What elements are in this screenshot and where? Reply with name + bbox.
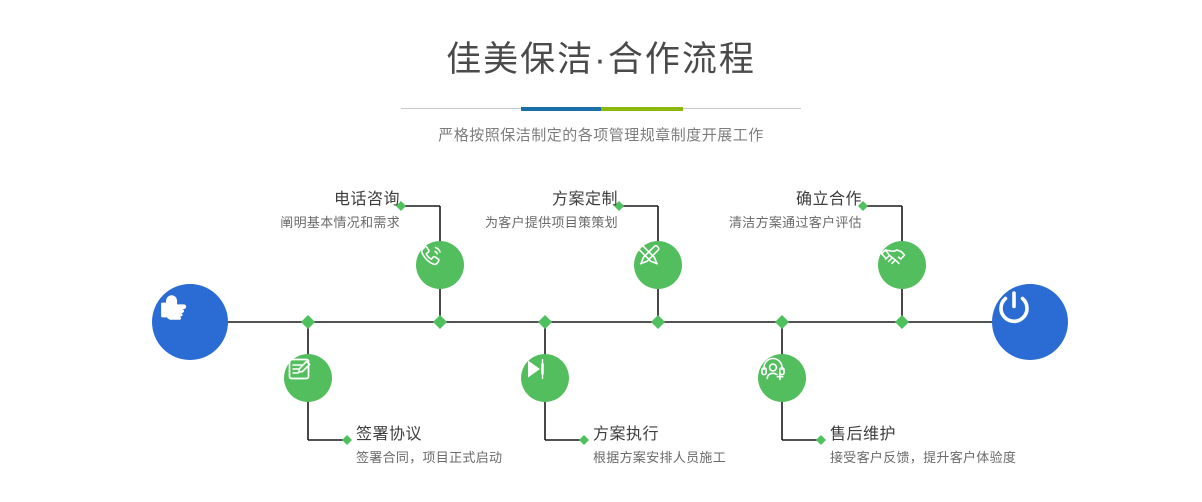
timeline-diamond-3 <box>538 315 552 329</box>
process-flow-diagram: 电话咨询 阐明基本情况和需求 签署协议 签署合同，项目正式启动 方案定制 为客户… <box>0 0 1202 502</box>
step-title-6: 售后维护 <box>830 425 1016 445</box>
step-label-2: 签署协议 签署合同，项目正式启动 <box>356 425 502 467</box>
timeline-diamond-1 <box>301 315 315 329</box>
timeline-diamond-2 <box>433 315 447 329</box>
step-icon-4[interactable] <box>521 354 569 402</box>
step-desc-5: 清洁方案通过客户评估 <box>729 213 862 232</box>
step-icon-1[interactable] <box>416 241 464 289</box>
step-icon-6[interactable] <box>758 354 806 402</box>
step-desc-4: 根据方案安排人员施工 <box>593 448 726 467</box>
step-icon-3[interactable] <box>634 241 682 289</box>
step-label-3: 方案定制 为客户提供项目策策划 <box>485 190 618 232</box>
step-desc-1: 阐明基本情况和需求 <box>280 213 400 232</box>
timeline-diamond-6 <box>895 315 909 329</box>
flow-end-node[interactable] <box>992 284 1068 360</box>
label-diamond-step-6 <box>816 435 826 445</box>
step-icon-5[interactable] <box>878 241 926 289</box>
play-skip-icon <box>521 354 551 384</box>
timeline-diamond-4 <box>651 315 665 329</box>
timeline-diamond-5 <box>775 315 789 329</box>
step-title-4: 方案执行 <box>593 425 726 445</box>
step-icon-2[interactable] <box>284 354 332 402</box>
step-title-1: 电话咨询 <box>280 190 400 210</box>
step-desc-6: 接受客户反馈，提升客户体验度 <box>830 448 1016 467</box>
step-title-5: 确立合作 <box>729 190 862 210</box>
step-desc-3: 为客户提供项目策策划 <box>485 213 618 232</box>
step-label-4: 方案执行 根据方案安排人员施工 <box>593 425 726 467</box>
flow-start-node[interactable] <box>152 284 228 360</box>
step-label-6: 售后维护 接受客户反馈，提升客户体验度 <box>830 425 1016 467</box>
step-label-1: 电话咨询 阐明基本情况和需求 <box>280 190 400 232</box>
phone-call-icon <box>416 241 446 271</box>
document-edit-icon <box>284 354 314 384</box>
pencil-ruler-icon <box>634 241 664 271</box>
label-diamond-step-2 <box>342 435 352 445</box>
handshake-icon <box>878 241 908 271</box>
power-icon <box>992 284 1036 328</box>
step-desc-2: 签署合同，项目正式启动 <box>356 448 502 467</box>
step-title-3: 方案定制 <box>485 190 618 210</box>
label-diamond-step-4 <box>579 435 589 445</box>
pointing-hand-icon <box>152 284 196 328</box>
step-title-2: 签署协议 <box>356 425 502 445</box>
headset-support-icon <box>758 354 788 384</box>
step-label-5: 确立合作 清洁方案通过客户评估 <box>729 190 862 232</box>
